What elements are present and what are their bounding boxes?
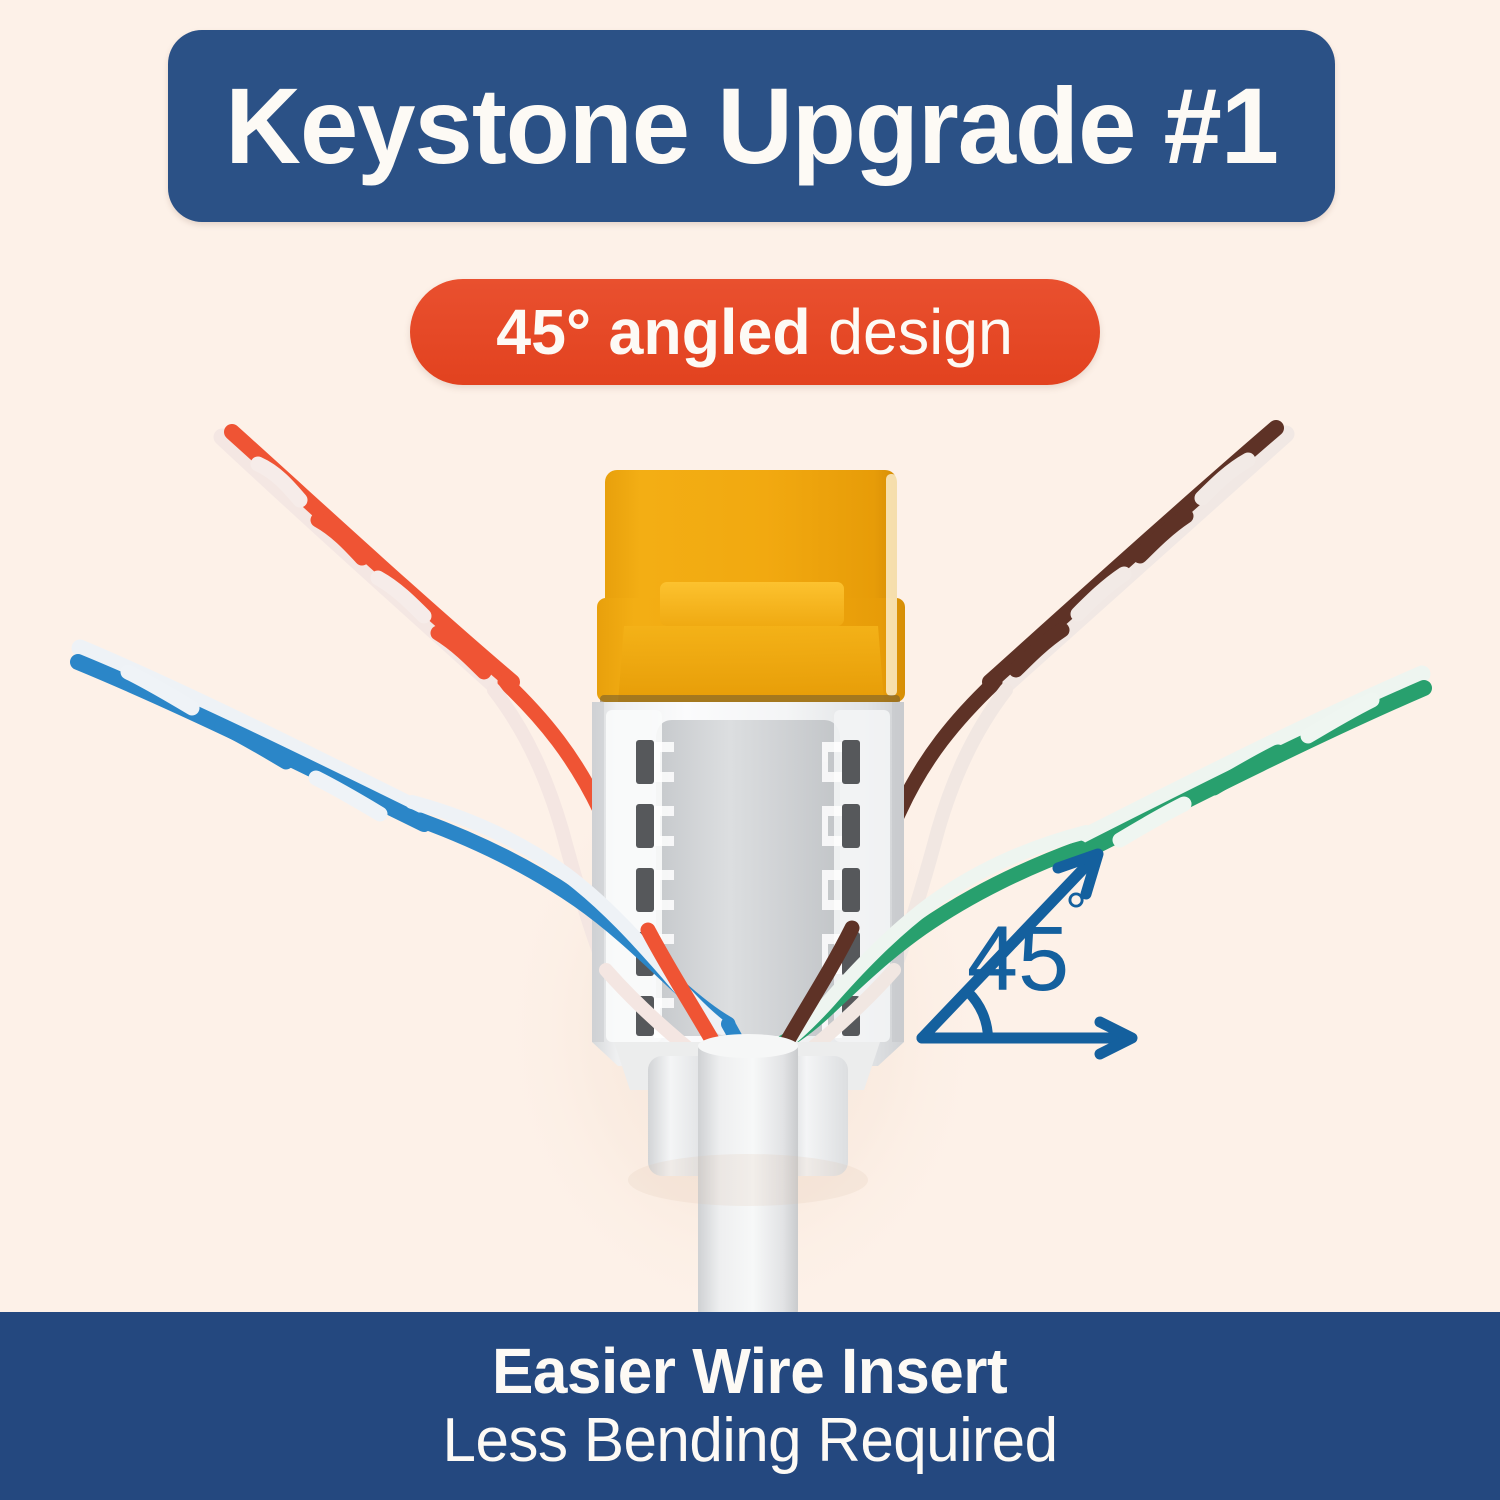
footer-subheadline: Less Bending Required xyxy=(442,1406,1057,1475)
footer-headline: Easier Wire Insert xyxy=(492,1337,1007,1406)
jacket-top-lip xyxy=(698,1034,798,1058)
cap-lower-panel xyxy=(618,626,884,702)
footer-banner: Easier Wire Insert Less Bending Required xyxy=(0,1312,1500,1500)
yellow-dust-cap xyxy=(597,470,905,705)
cap-tab xyxy=(660,582,844,626)
badge-regular-text: design xyxy=(811,296,1013,368)
page-title: Keystone Upgrade #1 xyxy=(225,72,1278,180)
angle-feature-badge: 45° angled design xyxy=(410,279,1100,385)
headline-banner: Keystone Upgrade #1 xyxy=(168,30,1335,222)
product-photo: 45 ° xyxy=(0,390,1500,1315)
angle-value-text: 45 xyxy=(967,908,1069,1010)
angle-degree-symbol: ° xyxy=(1065,882,1087,942)
angle-diagram-label: 45 ° xyxy=(967,882,1087,1010)
angle-feature-badge-label: 45° angled design xyxy=(497,300,1014,364)
badge-bold-text: 45° angled xyxy=(497,296,811,368)
product-marketing-image: Keystone Upgrade #1 45° angled design xyxy=(0,0,1500,1500)
